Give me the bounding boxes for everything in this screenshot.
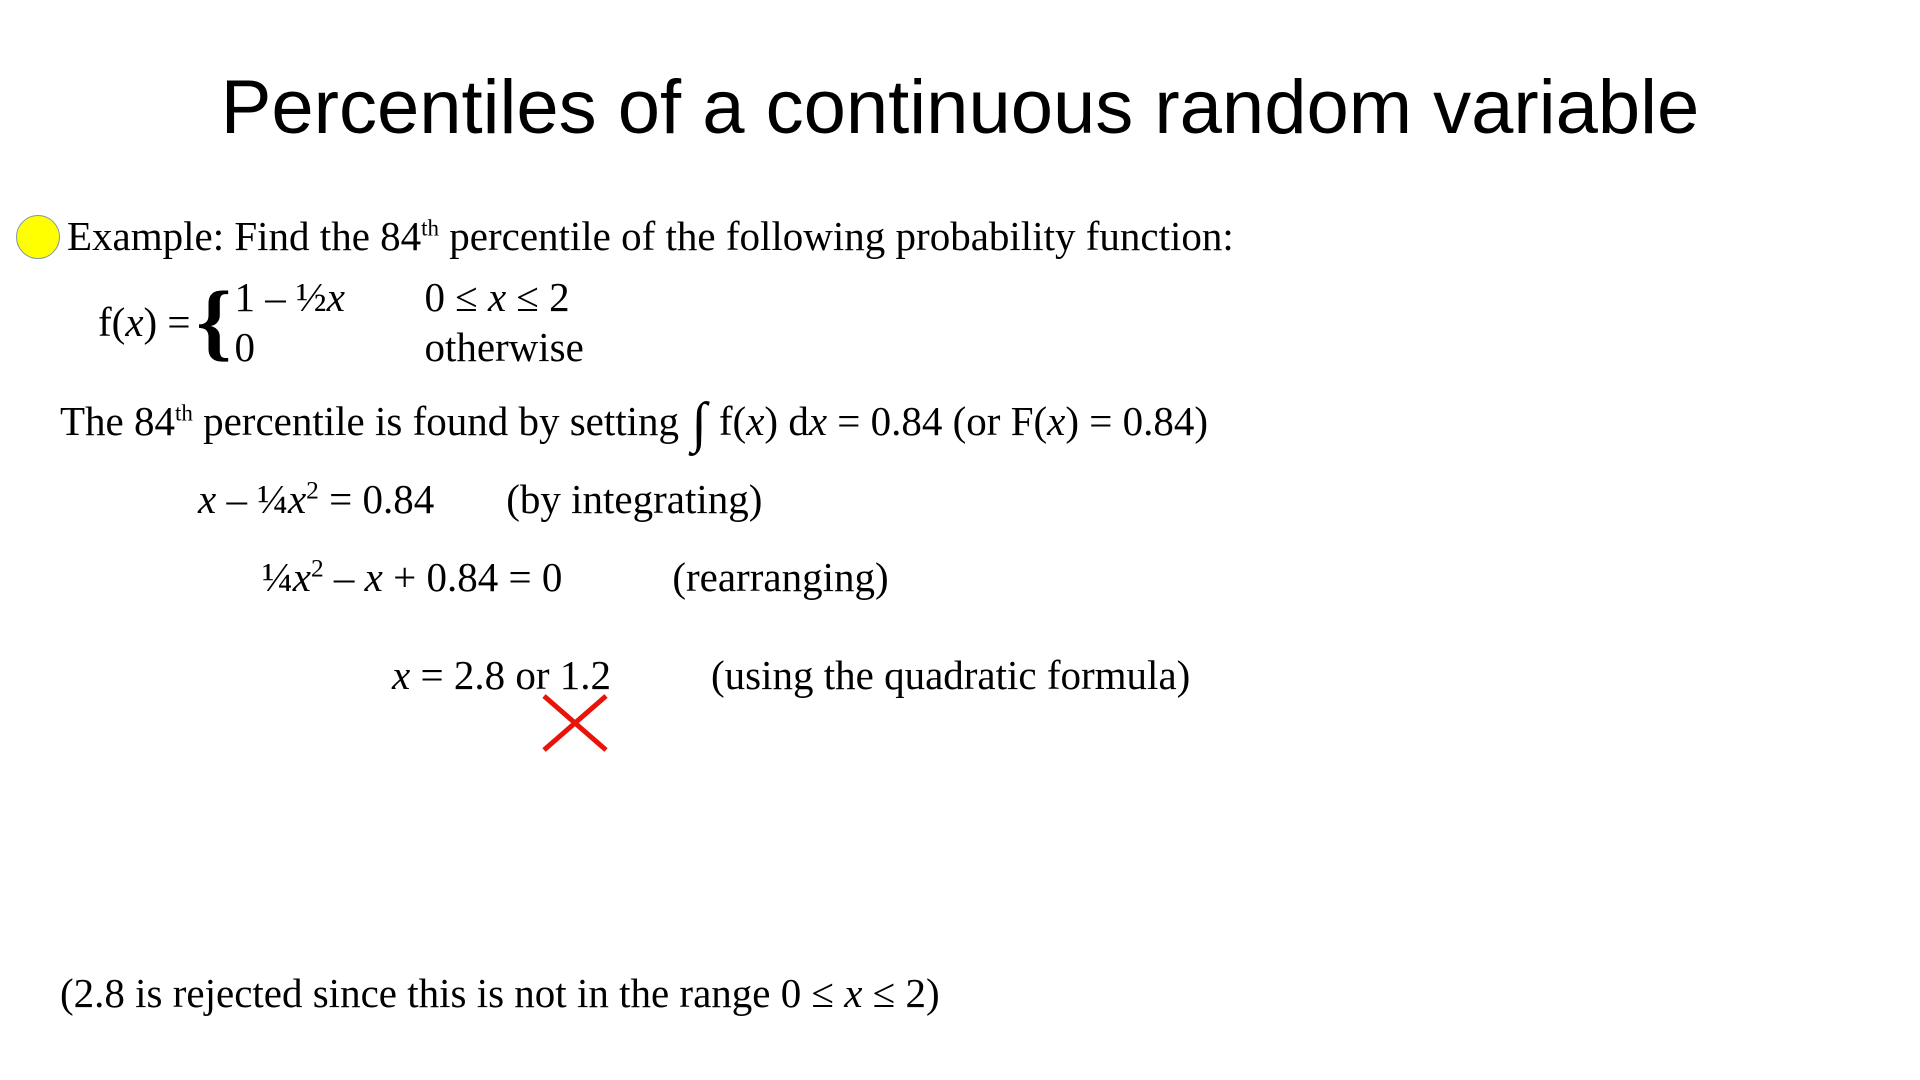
- step-integrating-var1: x: [198, 476, 216, 522]
- step-quadratic-equals: =: [410, 652, 454, 698]
- step-setting-integrand-suffix: ) d: [764, 398, 808, 444]
- step-quadratic-rejected-root: 2.8: [454, 652, 505, 698]
- footnote-prefix: (2.8 is rejected since this is not in th…: [60, 970, 844, 1016]
- step-setting-integral: The 84th percentile is found by setting …: [60, 396, 1208, 446]
- piecewise-condition: 0 ≤ x ≤ 2: [424, 272, 569, 322]
- step-integrating: x – ¼x2 = 0.84(by integrating): [198, 474, 762, 524]
- function-label: f(x) =: [98, 297, 191, 347]
- function-label-suffix: ) =: [144, 299, 191, 345]
- bullet-text: Example: Find the 84th percentile of the…: [67, 212, 1234, 260]
- piecewise-expression-variable: x: [327, 274, 345, 320]
- piecewise-expression: 0: [234, 322, 424, 372]
- step-rearranging: ¼x2 – x + 0.84 = 0(rearranging): [262, 552, 889, 602]
- step-rearranging-coef: ¼: [262, 554, 293, 600]
- step-setting-tail: = 0.84 (or F(: [827, 398, 1047, 444]
- footnote-suffix: ≤ 2): [862, 970, 939, 1016]
- step-setting-integrand-prefix: f(: [709, 398, 747, 444]
- bullet-ordinal-suffix: th: [421, 215, 439, 240]
- step-quadratic-accepted-root: 1.2: [560, 652, 611, 698]
- slide-canvas: Percentiles of a continuous random varia…: [0, 0, 1920, 1080]
- step-integrating-power: 2: [306, 476, 319, 504]
- bullet-text-lead: Example: Find the 84: [67, 213, 421, 259]
- function-label-prefix: f(: [98, 299, 125, 345]
- piecewise-rows: 1 – ½x 0 ≤ x ≤ 2 0 otherwise: [234, 272, 583, 372]
- step-quadratic-var: x: [392, 652, 410, 698]
- footnote-rejection: (2.8 is rejected since this is not in th…: [60, 968, 940, 1018]
- step-quadratic: x = 2.8 or 1.2(using the quadratic formu…: [392, 650, 1190, 700]
- page-title: Percentiles of a continuous random varia…: [0, 62, 1920, 154]
- footnote-variable: x: [844, 970, 862, 1016]
- step-integrating-op: – ¼: [216, 476, 288, 522]
- bullet-text-tail: percentile of the following probability …: [439, 213, 1234, 259]
- step-setting-tail-variable: x: [1047, 398, 1065, 444]
- step-rearranging-op: –: [324, 554, 365, 600]
- piecewise-expression-text: 1 – ½: [234, 274, 326, 320]
- bullet-line: Example: Find the 84th percentile of the…: [16, 212, 1234, 260]
- function-label-variable: x: [125, 299, 143, 345]
- integral-icon: ∫: [689, 392, 708, 454]
- piecewise-condition: otherwise: [424, 322, 583, 372]
- step-rearranging-power: 2: [311, 554, 324, 582]
- piecewise-function: f(x) = { 1 – ½x 0 ≤ x ≤ 2 0 otherwise: [98, 272, 584, 372]
- step-setting-lead: The 84: [60, 398, 175, 444]
- piecewise-row: 1 – ½x 0 ≤ x ≤ 2: [234, 272, 583, 322]
- step-quadratic-conjunction: or: [505, 652, 560, 698]
- step-setting-ordinal: th: [175, 400, 193, 425]
- step-setting-integrand-variable: x: [746, 398, 764, 444]
- step-integrating-note: (by integrating): [506, 476, 762, 522]
- step-integrating-equals: = 0.84: [319, 476, 434, 522]
- step-rearranging-var2: x: [365, 554, 383, 600]
- step-setting-mid: percentile is found by setting: [193, 398, 689, 444]
- piecewise-row: 0 otherwise: [234, 322, 583, 372]
- curly-brace-icon: {: [196, 291, 232, 353]
- step-setting-tail-end: ) = 0.84): [1065, 398, 1208, 444]
- step-quadratic-note: (using the quadratic formula): [711, 652, 1190, 698]
- step-rearranging-note: (rearranging): [672, 554, 888, 600]
- piecewise-expression: 1 – ½x: [234, 272, 424, 322]
- step-rearranging-equals: + 0.84 = 0: [383, 554, 563, 600]
- red-cross-out-icon: [541, 693, 609, 753]
- step-setting-dx-variable: x: [809, 398, 827, 444]
- piecewise-expression-text: 0: [234, 324, 255, 370]
- step-integrating-var2: x: [288, 476, 306, 522]
- step-rearranging-var1: x: [293, 554, 311, 600]
- yellow-bullet-icon: [16, 215, 60, 259]
